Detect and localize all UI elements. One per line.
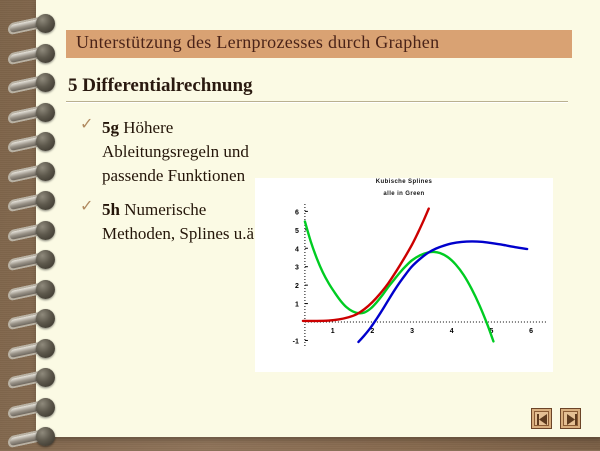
list-item: ✓ 5h Numerische Methoden, Splines u.ä.: [80, 198, 260, 246]
svg-text:1: 1: [295, 302, 299, 309]
heading-divider: [66, 101, 568, 103]
bullet-body: Numerische Methoden, Splines u.ä.: [102, 200, 258, 243]
function-graph: Kubische Splines alle in Green 123456-11…: [255, 178, 553, 372]
slide-title-band: Unterstützung des Lernprozesses durch Gr…: [66, 30, 572, 58]
bullet-list: ✓ 5g Höhere Ableitungsregeln und passend…: [80, 116, 260, 256]
navigation-buttons: [527, 408, 581, 429]
previous-icon: [536, 413, 549, 426]
previous-slide-button[interactable]: [531, 408, 552, 429]
svg-text:4: 4: [450, 328, 454, 335]
checkmark-icon: ✓: [80, 199, 98, 215]
svg-text:2: 2: [295, 283, 299, 290]
curve: [303, 209, 429, 321]
svg-text:4: 4: [295, 246, 299, 253]
svg-text:5: 5: [295, 228, 299, 235]
next-slide-button[interactable]: [560, 408, 581, 429]
bullet-text: 5h Numerische Methoden, Splines u.ä.: [102, 198, 260, 246]
slide-title: Unterstützung des Lernprozesses durch Gr…: [76, 32, 439, 53]
chart-title: Kubische Splines: [255, 179, 553, 185]
bullet-label: 5h: [102, 200, 120, 219]
svg-text:1: 1: [331, 328, 335, 335]
bullet-body: Höhere Ableitungsregeln und passende Fun…: [102, 118, 249, 185]
bullet-text: 5g Höhere Ableitungsregeln und passende …: [102, 116, 260, 188]
bullet-label: 5g: [102, 118, 119, 137]
svg-text:6: 6: [295, 209, 299, 216]
list-item: ✓ 5g Höhere Ableitungsregeln und passend…: [80, 116, 260, 188]
section-heading: 5 Differentialrechnung: [68, 75, 253, 97]
chart-subtitle: alle in Green: [255, 191, 553, 197]
svg-text:3: 3: [410, 328, 414, 335]
svg-text:-1: -1: [293, 338, 299, 345]
next-icon: [565, 413, 578, 426]
svg-text:3: 3: [295, 265, 299, 272]
checkmark-icon: ✓: [80, 117, 98, 133]
plot-canvas: 123456-1123456: [255, 178, 553, 372]
svg-text:6: 6: [529, 328, 533, 335]
